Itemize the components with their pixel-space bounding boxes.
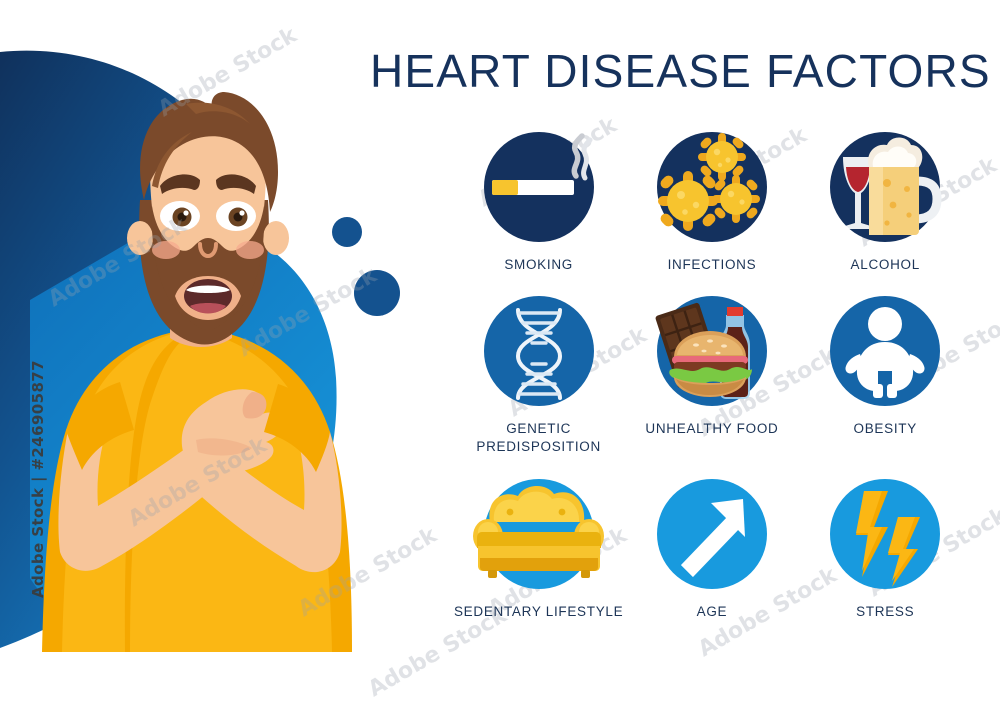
- factor-obesity[interactable]: OBESITY: [799, 296, 972, 456]
- page-title: HEART DISEASE FACTORS: [370, 44, 970, 98]
- factor-label: SMOKING: [504, 256, 573, 274]
- stress-circle[interactable]: [830, 479, 940, 589]
- wine-glass-and-beer-mug-icon: [825, 127, 945, 247]
- factor-label: AGE: [697, 603, 728, 621]
- factor-stress[interactable]: STRESS: [799, 479, 972, 621]
- factor-infections[interactable]: INFECTIONS: [625, 132, 798, 274]
- factor-age[interactable]: AGE: [625, 479, 798, 621]
- cigarette-icon: [484, 132, 594, 242]
- alcohol-circle[interactable]: [830, 132, 940, 242]
- age-circle[interactable]: [657, 479, 767, 589]
- burger-chocolate-soda-icon: [650, 289, 774, 413]
- factor-label: INFECTIONS: [668, 256, 757, 274]
- infographic-canvas: Adobe Stock Adobe Stock Adobe Stock Adob…: [0, 0, 1000, 707]
- genetic-circle[interactable]: [484, 296, 594, 406]
- factors-row-2: GENETIC PREDISPOSITION: [452, 296, 972, 456]
- obesity-circle[interactable]: [830, 296, 940, 406]
- obese-person-icon: [830, 296, 940, 406]
- factor-label: UNHEALTHY FOOD: [645, 420, 778, 438]
- adobe-stock-watermark: Adobe Stock | #246905877: [29, 349, 47, 609]
- factor-label: GENETIC PREDISPOSITION: [452, 420, 625, 456]
- sedentary-circle[interactable]: [484, 479, 594, 589]
- factor-smoking[interactable]: SMOKING: [452, 132, 625, 274]
- dna-helix-icon: [484, 296, 594, 406]
- lightning-bolts-icon: [830, 479, 940, 589]
- factor-genetic-predisposition[interactable]: GENETIC PREDISPOSITION: [452, 296, 625, 456]
- factor-alcohol[interactable]: ALCOHOL: [799, 132, 972, 274]
- factor-sedentary-lifestyle[interactable]: SEDENTARY LIFESTYLE: [452, 479, 625, 621]
- factor-label: SEDENTARY LIFESTYLE: [454, 603, 623, 621]
- infections-circle[interactable]: [657, 132, 767, 242]
- up-arrow-icon: [657, 479, 767, 589]
- unhealthy-food-circle[interactable]: [657, 296, 767, 406]
- factor-unhealthy-food[interactable]: UNHEALTHY FOOD: [625, 296, 798, 456]
- factors-row-1: SMOKING: [452, 132, 972, 274]
- sofa-icon: [472, 474, 606, 594]
- factors-row-3: SEDENTARY LIFESTYLE AGE: [452, 479, 972, 621]
- factor-label: STRESS: [856, 603, 914, 621]
- factor-label: ALCOHOL: [851, 256, 920, 274]
- smoking-circle[interactable]: [484, 132, 594, 242]
- virus-icon: [654, 129, 770, 245]
- factor-label: OBESITY: [854, 420, 917, 438]
- factors-grid: SMOKING: [452, 132, 972, 621]
- man-with-chest-pain-illustration: [0, 0, 440, 707]
